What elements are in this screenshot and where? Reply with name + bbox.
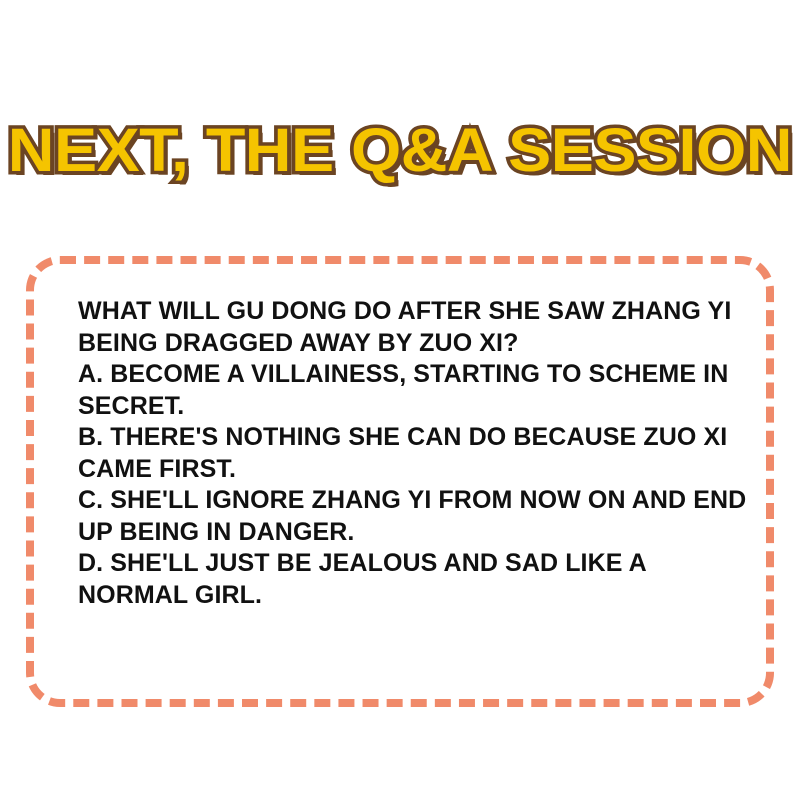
page-title: NEXT, THE Q&A SESSION xyxy=(8,120,792,181)
option-d-line-2: NORMAL GIRL. xyxy=(78,580,746,612)
qa-slide-canvas: { "colors": { "background": "#ffffff", "… xyxy=(0,0,800,804)
option-a-line-2: SECRET. xyxy=(78,391,746,423)
question-line-1: WHAT WILL GU DONG DO AFTER SHE SAW ZHANG… xyxy=(78,296,746,328)
option-b-line-2: CAME FIRST. xyxy=(78,454,746,486)
option-c-line-1: C. SHE'LL IGNORE ZHANG YI FROM NOW ON AN… xyxy=(78,485,746,517)
title-banner: NEXT, THE Q&A SESSION xyxy=(0,112,800,188)
question-line-2: BEING DRAGGED AWAY BY ZUO XI? xyxy=(78,328,746,360)
option-d-line-1: D. SHE'LL JUST BE JEALOUS AND SAD LIKE A xyxy=(78,548,746,580)
option-a-line-1: A. BECOME A VILLAINESS, STARTING TO SCHE… xyxy=(78,359,746,391)
option-c-line-2: UP BEING IN DANGER. xyxy=(78,517,746,549)
option-b-line-1: B. THERE'S NOTHING SHE CAN DO BECAUSE ZU… xyxy=(78,422,746,454)
question-and-options-text: WHAT WILL GU DONG DO AFTER SHE SAW ZHANG… xyxy=(78,296,746,611)
